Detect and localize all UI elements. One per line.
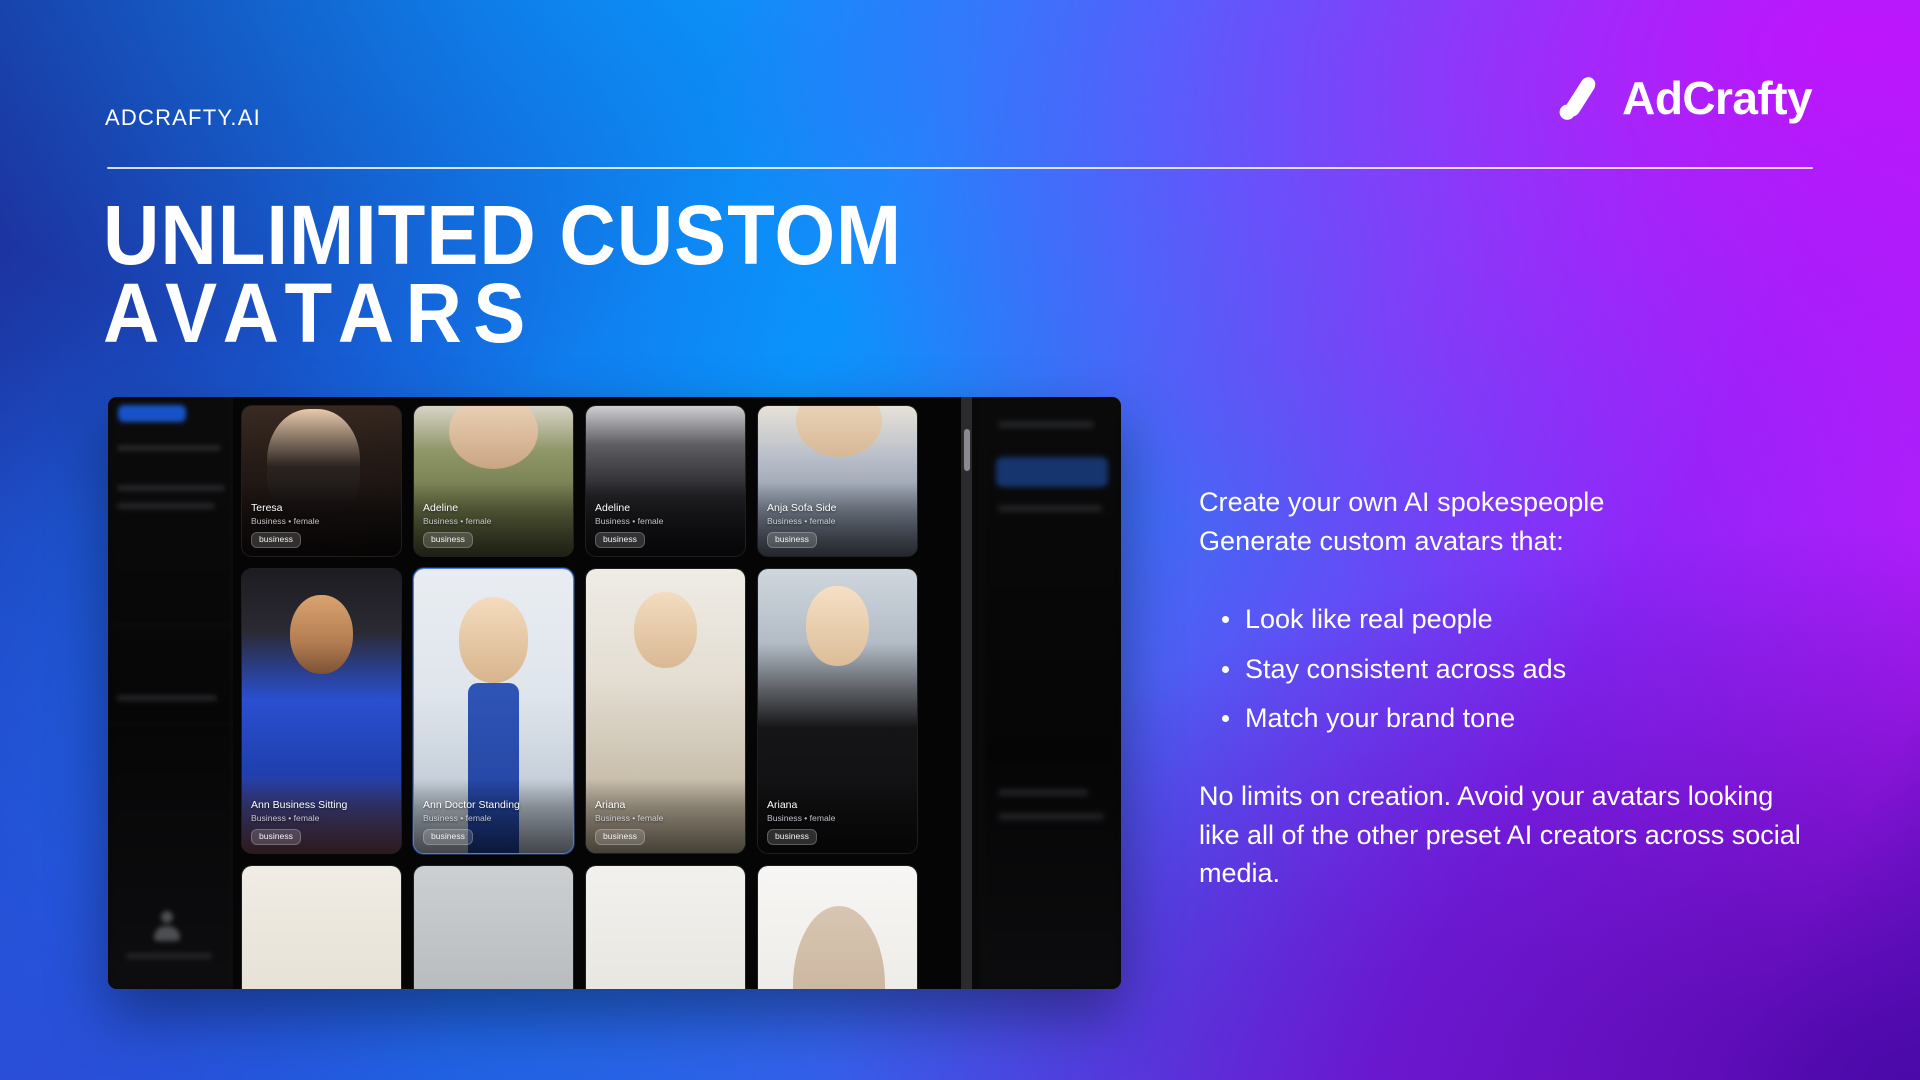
avatar-subtitle: Business • female — [423, 813, 565, 825]
avatar-card[interactable]: Ann Business Sitting Business • female b… — [241, 568, 402, 854]
page-title-line-2: AVATARS — [103, 274, 1182, 352]
avatar-name: Ann Business Sitting — [251, 799, 393, 812]
avatar-card[interactable]: Adeline Business • female business — [585, 405, 746, 557]
app-right-panel[interactable] — [983, 397, 1121, 989]
list-item: Stay consistent across ads — [1245, 652, 1819, 686]
avatar-name: Adeline — [595, 502, 737, 515]
card-meta: Adeline Business • female business — [595, 502, 737, 548]
avatar-card[interactable] — [241, 865, 402, 989]
avatar-name: Ann Doctor Standing — [423, 799, 565, 812]
app-sidebar[interactable] — [108, 397, 233, 989]
avatar-subtitle: Business • female — [423, 516, 565, 528]
benefits-list: Look like real people Stay consistent ac… — [1199, 602, 1819, 735]
avatar-tag[interactable]: business — [767, 532, 817, 548]
avatar-name: Ariana — [767, 799, 909, 812]
avatar-tag[interactable]: business — [251, 829, 301, 845]
rail-placeholder-line — [998, 421, 1094, 428]
page-title-line-1: UNLIMITED CUSTOM — [103, 196, 1182, 274]
avatar-name: Anja Sofa Side — [767, 502, 909, 515]
avatar-card[interactable]: Anja Sofa Side Business • female busines… — [757, 405, 918, 557]
avatar-tag[interactable]: business — [423, 532, 473, 548]
rail-placeholder-line — [998, 789, 1088, 796]
copy-outro: No limits on creation. Avoid your avatar… — [1199, 777, 1819, 893]
sidebar-divider — [108, 625, 232, 626]
avatar-card[interactable]: Teresa Business • female business — [241, 405, 402, 557]
avatar-subtitle: Business • female — [595, 516, 737, 528]
sidebar-badge — [118, 405, 186, 422]
app-screenshot-panel: Teresa Business • female business Adelin… — [108, 397, 1121, 989]
avatar-card[interactable] — [585, 865, 746, 989]
avatar-card-selected[interactable]: Ann Doctor Standing Business • female bu… — [413, 568, 574, 854]
card-meta: Ariana Business • female business — [767, 799, 909, 845]
avatar-name: Ariana — [595, 799, 737, 812]
header-divider — [107, 167, 1813, 169]
avatar-grid-area[interactable]: Teresa Business • female business Adelin… — [233, 397, 966, 989]
avatar-thumbnail — [758, 866, 917, 989]
avatar-tag[interactable]: business — [595, 829, 645, 845]
copy-lead: Create your own AI spokespeople Generate… — [1199, 483, 1819, 560]
page-eyebrow: ADCRAFTY.AI — [105, 105, 261, 131]
avatar-card[interactable]: Adeline Business • female business — [413, 405, 574, 557]
vertical-scrollbar[interactable] — [961, 397, 972, 989]
avatar-tag[interactable]: business — [423, 829, 473, 845]
sidebar-placeholder-line — [117, 485, 225, 491]
scrollbar-thumb[interactable] — [964, 429, 970, 471]
avatar-grid: Teresa Business • female business Adelin… — [241, 405, 966, 989]
avatar-name: Adeline — [423, 502, 565, 515]
avatar-name: Teresa — [251, 502, 393, 515]
avatar-thumbnail — [242, 866, 401, 989]
card-meta: Teresa Business • female business — [251, 502, 393, 548]
sidebar-divider — [108, 723, 232, 724]
card-meta: Ann Business Sitting Business • female b… — [251, 799, 393, 845]
rail-placeholder-line — [998, 505, 1102, 512]
brand-name: AdCrafty — [1622, 75, 1812, 121]
sidebar-placeholder-line — [117, 445, 221, 451]
copy-lead-line-1: Create your own AI spokespeople — [1199, 483, 1819, 522]
avatar-tag[interactable]: business — [251, 532, 301, 548]
brand-lockup: AdCrafty — [1554, 72, 1812, 124]
sidebar-placeholder-line — [126, 953, 212, 959]
card-meta: Anja Sofa Side Business • female busines… — [767, 502, 909, 548]
avatar-subtitle: Business • female — [595, 813, 737, 825]
copy-column: Create your own AI spokespeople Generate… — [1199, 483, 1819, 893]
avatar-thumbnail — [586, 866, 745, 989]
avatar-card[interactable] — [757, 865, 918, 989]
sidebar-placeholder-line — [117, 503, 215, 509]
avatar-thumbnail — [414, 866, 573, 989]
avatar-card[interactable] — [413, 865, 574, 989]
avatar-subtitle: Business • female — [767, 516, 909, 528]
avatar-subtitle: Business • female — [767, 813, 909, 825]
slide-stage: ADCRAFTY.AI AdCrafty UNLIMITED CUSTOM AV… — [0, 0, 1920, 1080]
rail-primary-button[interactable] — [996, 457, 1108, 487]
user-avatar-icon[interactable] — [152, 911, 182, 941]
avatar-subtitle: Business • female — [251, 516, 393, 528]
avatar-tag[interactable]: business — [595, 532, 645, 548]
avatar-card[interactable]: Ariana Business • female business — [585, 568, 746, 854]
card-meta: Ann Doctor Standing Business • female bu… — [423, 799, 565, 845]
card-meta: Adeline Business • female business — [423, 502, 565, 548]
avatar-subtitle: Business • female — [251, 813, 393, 825]
copy-lead-line-2: Generate custom avatars that: — [1199, 522, 1819, 561]
sidebar-placeholder-line — [117, 695, 217, 701]
card-meta: Ariana Business • female business — [595, 799, 737, 845]
adcrafty-logo-icon — [1554, 72, 1606, 124]
rail-placeholder-line — [998, 813, 1104, 820]
page-title: UNLIMITED CUSTOM AVATARS — [103, 196, 1182, 352]
list-item: Look like real people — [1245, 602, 1819, 636]
list-item: Match your brand tone — [1245, 701, 1819, 735]
avatar-tag[interactable]: business — [767, 829, 817, 845]
avatar-card[interactable]: Ariana Business • female business — [757, 568, 918, 854]
